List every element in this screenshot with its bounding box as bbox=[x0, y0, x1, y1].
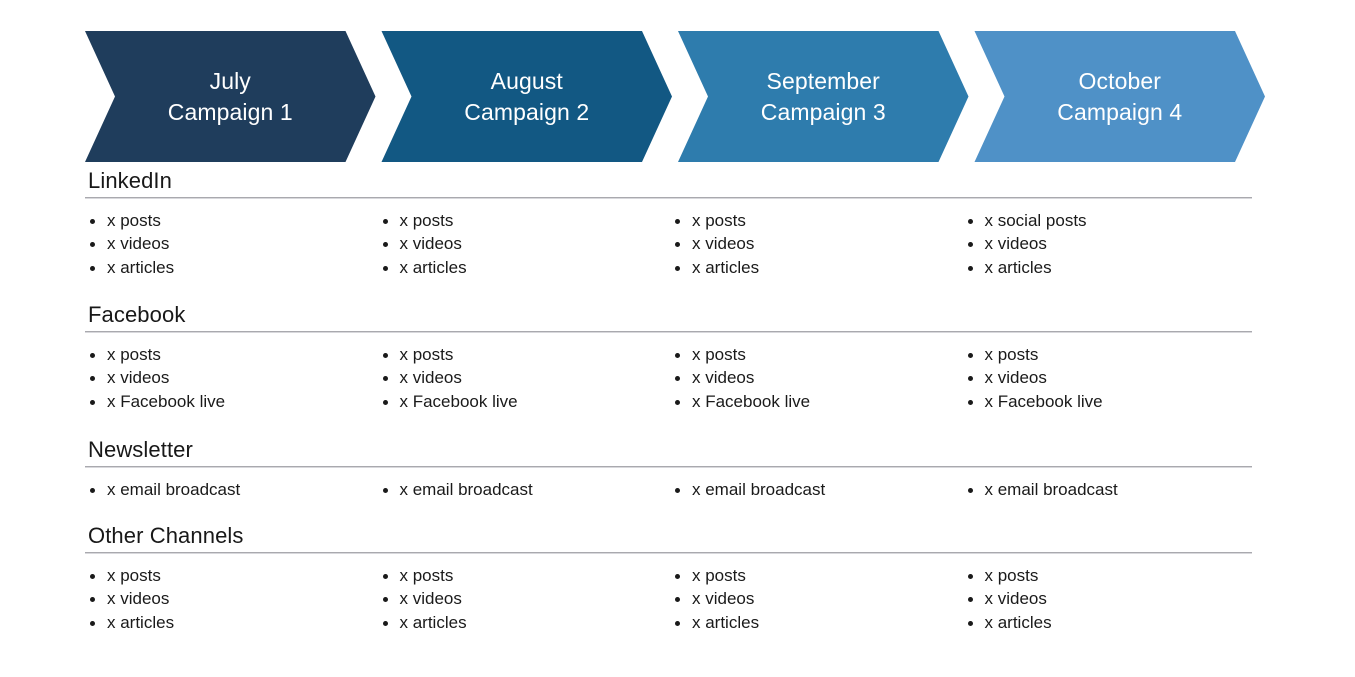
deliverable-list: x email broadcast bbox=[378, 478, 658, 501]
column-4: x postsx videosx Facebook live bbox=[963, 343, 1243, 413]
list-item[interactable]: x email broadcast bbox=[963, 478, 1243, 501]
list-item[interactable]: x posts bbox=[963, 343, 1243, 366]
column-2: x postsx videosx articles bbox=[378, 209, 658, 279]
column-3: x postsx videosx articles bbox=[670, 564, 950, 634]
column-1: x postsx videosx articles bbox=[85, 564, 365, 634]
deliverable-list: x postsx videosx articles bbox=[378, 209, 658, 279]
list-item[interactable]: x posts bbox=[85, 209, 365, 232]
section-linkedin: LinkedInx postsx videosx articlesx posts… bbox=[85, 168, 1252, 209]
list-item[interactable]: x Facebook live bbox=[85, 390, 365, 413]
list-item[interactable]: x videos bbox=[670, 587, 950, 610]
deliverable-list: x postsx videosx Facebook live bbox=[85, 343, 365, 413]
campaign-content-calendar: JulyCampaign 1AugustCampaign 2SeptemberC… bbox=[0, 0, 1355, 677]
column-4: x email broadcast bbox=[963, 478, 1243, 501]
list-item[interactable]: x videos bbox=[963, 232, 1243, 255]
list-item[interactable]: x social posts bbox=[963, 209, 1243, 232]
column-1: x postsx videosx articles bbox=[85, 209, 365, 279]
list-item[interactable]: x posts bbox=[85, 564, 365, 587]
deliverable-list: x postsx videosx articles bbox=[963, 564, 1243, 634]
list-item[interactable]: x videos bbox=[378, 366, 658, 389]
campaign-timeline-header: JulyCampaign 1AugustCampaign 2SeptemberC… bbox=[85, 31, 1265, 162]
section-facebook: Facebookx postsx videosx Facebook livex … bbox=[85, 302, 1252, 343]
column-1: x postsx videosx Facebook live bbox=[85, 343, 365, 413]
list-item[interactable]: x videos bbox=[378, 587, 658, 610]
section-title: Other Channels bbox=[85, 523, 1252, 552]
column-2: x email broadcast bbox=[378, 478, 658, 501]
list-item[interactable]: x posts bbox=[378, 209, 658, 232]
deliverable-list: x postsx videosx articles bbox=[85, 209, 365, 279]
list-item[interactable]: x posts bbox=[85, 343, 365, 366]
deliverable-list: x postsx videosx Facebook live bbox=[963, 343, 1243, 413]
deliverable-list: x postsx videosx articles bbox=[670, 209, 950, 279]
chevron-shape-4[interactable] bbox=[975, 31, 1266, 162]
section-newsletter: Newsletterx email broadcastx email broad… bbox=[85, 437, 1252, 478]
section-title: LinkedIn bbox=[85, 168, 1252, 197]
deliverable-list: x postsx videosx articles bbox=[670, 564, 950, 634]
list-item[interactable]: x articles bbox=[670, 256, 950, 279]
list-item[interactable]: x videos bbox=[963, 366, 1243, 389]
section-divider bbox=[85, 466, 1252, 468]
column-3: x postsx videosx articles bbox=[670, 209, 950, 279]
list-item[interactable]: x videos bbox=[670, 232, 950, 255]
list-item[interactable]: x videos bbox=[670, 366, 950, 389]
list-item[interactable]: x videos bbox=[963, 587, 1243, 610]
list-item[interactable]: x articles bbox=[85, 611, 365, 634]
deliverable-list: x postsx videosx Facebook live bbox=[670, 343, 950, 413]
list-item[interactable]: x articles bbox=[963, 611, 1243, 634]
list-item[interactable]: x posts bbox=[963, 564, 1243, 587]
list-item[interactable]: x articles bbox=[85, 256, 365, 279]
column-4: x social postsx videosx articles bbox=[963, 209, 1243, 279]
list-item[interactable]: x Facebook live bbox=[378, 390, 658, 413]
column-4: x postsx videosx articles bbox=[963, 564, 1243, 634]
chevron-shape-2[interactable] bbox=[382, 31, 673, 162]
list-item[interactable]: x articles bbox=[378, 611, 658, 634]
chevron-shape-1[interactable] bbox=[85, 31, 376, 162]
section-divider bbox=[85, 197, 1252, 199]
section-divider bbox=[85, 331, 1252, 333]
deliverable-list: x postsx videosx articles bbox=[85, 564, 365, 634]
list-item[interactable]: x posts bbox=[670, 564, 950, 587]
deliverable-list: x postsx videosx articles bbox=[378, 564, 658, 634]
column-3: x postsx videosx Facebook live bbox=[670, 343, 950, 413]
chevron-shape-3[interactable] bbox=[678, 31, 969, 162]
list-item[interactable]: x videos bbox=[85, 232, 365, 255]
deliverable-list: x social postsx videosx articles bbox=[963, 209, 1243, 279]
column-2: x postsx videosx articles bbox=[378, 564, 658, 634]
list-item[interactable]: x Facebook live bbox=[963, 390, 1243, 413]
deliverable-list: x email broadcast bbox=[963, 478, 1243, 501]
list-item[interactable]: x videos bbox=[378, 232, 658, 255]
section-divider bbox=[85, 552, 1252, 554]
list-item[interactable]: x videos bbox=[85, 366, 365, 389]
list-item[interactable]: x articles bbox=[963, 256, 1243, 279]
deliverable-list: x email broadcast bbox=[670, 478, 950, 501]
list-item[interactable]: x posts bbox=[670, 209, 950, 232]
list-item[interactable]: x videos bbox=[85, 587, 365, 610]
list-item[interactable]: x email broadcast bbox=[85, 478, 365, 501]
list-item[interactable]: x Facebook live bbox=[670, 390, 950, 413]
chevron-shapes bbox=[85, 31, 1265, 162]
deliverable-list: x postsx videosx Facebook live bbox=[378, 343, 658, 413]
column-2: x postsx videosx Facebook live bbox=[378, 343, 658, 413]
list-item[interactable]: x email broadcast bbox=[378, 478, 658, 501]
section-title: Facebook bbox=[85, 302, 1252, 331]
list-item[interactable]: x email broadcast bbox=[670, 478, 950, 501]
deliverable-list: x email broadcast bbox=[85, 478, 365, 501]
section-other-channels: Other Channelsx postsx videosx articlesx… bbox=[85, 523, 1252, 564]
list-item[interactable]: x posts bbox=[670, 343, 950, 366]
column-3: x email broadcast bbox=[670, 478, 950, 501]
list-item[interactable]: x articles bbox=[378, 256, 658, 279]
section-title: Newsletter bbox=[85, 437, 1252, 466]
list-item[interactable]: x articles bbox=[670, 611, 950, 634]
list-item[interactable]: x posts bbox=[378, 343, 658, 366]
list-item[interactable]: x posts bbox=[378, 564, 658, 587]
column-1: x email broadcast bbox=[85, 478, 365, 501]
